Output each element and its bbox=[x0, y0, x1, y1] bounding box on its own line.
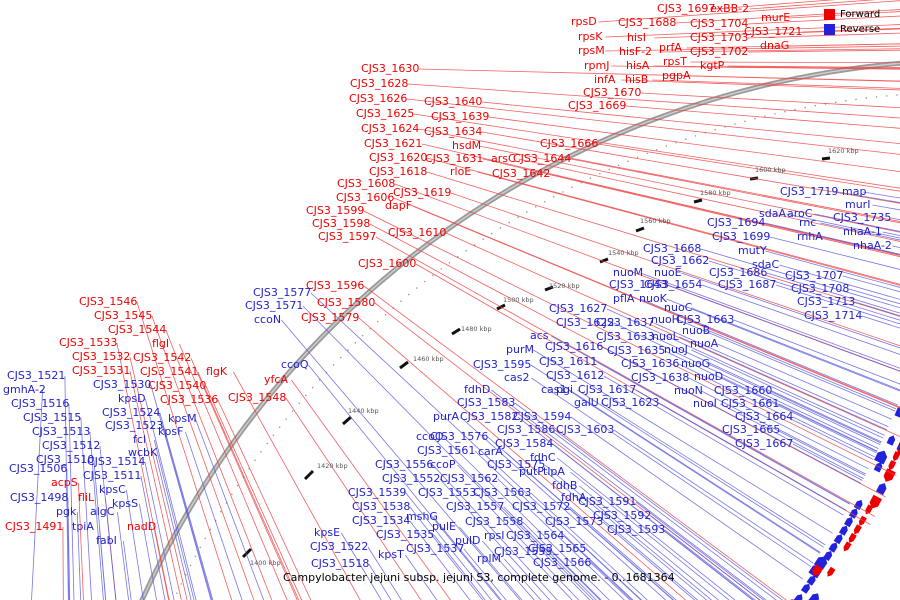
gene-label-reverse: CJS3_1513 bbox=[32, 426, 90, 437]
gene-label-reverse: CJS3_1665 bbox=[722, 424, 780, 435]
gene-label-forward: CJS3_1670 bbox=[583, 87, 641, 98]
gene-label-reverse: CJS3_1556 bbox=[375, 459, 433, 470]
gene-label-reverse: nuoA bbox=[690, 338, 718, 349]
scale-tick-label: 1520 kbp bbox=[549, 283, 580, 290]
gene-label-reverse: kpsM bbox=[168, 413, 197, 424]
gene-label-forward: hisI bbox=[627, 32, 646, 43]
gene-label-reverse: nuoE bbox=[654, 267, 682, 278]
gene-label-forward: hisB bbox=[625, 74, 648, 85]
gene-label-forward: rpsM bbox=[578, 45, 605, 56]
gene-label-forward: nadD bbox=[127, 521, 156, 532]
gene-label-forward: CJS3_1544 bbox=[108, 324, 166, 335]
gene-label-reverse: kpsF bbox=[158, 426, 183, 437]
gene-label-forward: hisF-2 bbox=[619, 46, 652, 57]
gene-label-reverse: kpsS bbox=[112, 498, 138, 509]
gene-label-reverse: ccoN bbox=[254, 314, 281, 325]
gene-label-forward: CJS3_1619 bbox=[393, 187, 451, 198]
reverse-gene-arrow bbox=[887, 435, 896, 445]
reverse-gene-arrow bbox=[839, 526, 848, 536]
gene-label-reverse: CJS3_1687 bbox=[718, 279, 776, 290]
reverse-gene-arrow bbox=[834, 534, 843, 544]
gene-label-forward: rpsT bbox=[663, 56, 687, 67]
gene-label-forward: CJS3_1533 bbox=[59, 337, 117, 348]
gene-label-reverse: CJS3_1595 bbox=[473, 359, 531, 370]
gene-label-reverse: CJS3_1638 bbox=[631, 372, 689, 383]
gene-label-forward: CJS3_1598 bbox=[312, 218, 370, 229]
gene-label-reverse: CJS3_1552 bbox=[382, 473, 440, 484]
gene-label-forward: CJS3_1628 bbox=[350, 78, 408, 89]
gene-label-reverse: pulD bbox=[455, 535, 480, 546]
gene-label-reverse: nuoJ bbox=[664, 344, 688, 355]
reverse-gene-arrow bbox=[844, 517, 853, 527]
gene-label-forward: CJS3_1599 bbox=[306, 205, 364, 216]
gene-label-reverse: pflA bbox=[613, 293, 634, 304]
gene-label-reverse: nuoL bbox=[652, 331, 679, 342]
gene-label-forward: CJS3_1618 bbox=[369, 166, 427, 177]
gene-label-reverse: CJS3_1563 bbox=[473, 487, 531, 498]
gene-label-reverse: tlpA bbox=[543, 466, 565, 477]
forward-gene-arrow bbox=[870, 495, 882, 509]
gene-label-reverse: CJS3_1654 bbox=[644, 279, 702, 290]
gene-label-reverse: CJS3_1535 bbox=[376, 529, 434, 540]
gene-label-reverse: CJS3_1514 bbox=[87, 456, 145, 467]
gene-label-reverse: CJS3_1564 bbox=[506, 530, 564, 541]
gene-label-forward: CJS3_1634 bbox=[424, 126, 482, 137]
gene-label-reverse: CJS3_1557 bbox=[446, 501, 504, 512]
gene-label-reverse: CJS3_1553 bbox=[418, 487, 476, 498]
gene-label-forward: pgpA bbox=[662, 70, 690, 81]
gene-label-reverse: CJS3_1577 bbox=[253, 287, 311, 298]
gene-label-forward: CJS3_1532 bbox=[72, 351, 130, 362]
gene-label-reverse: CJS3_1566 bbox=[533, 557, 591, 568]
gene-label-reverse: CJS3_1707 bbox=[785, 270, 843, 281]
gene-label-reverse: CJS3_1611 bbox=[539, 356, 597, 367]
gene-label-forward: rloE bbox=[450, 166, 471, 177]
gene-label-forward: CJS3_1702 bbox=[690, 46, 748, 57]
gene-label-reverse: CJS3_1627 bbox=[549, 303, 607, 314]
scale-tick-label: 1580 kbp bbox=[700, 190, 731, 197]
gene-label-forward: CJS3_1644 bbox=[513, 153, 571, 164]
gene-label-forward: flgK bbox=[206, 366, 227, 377]
gene-label-forward: fliL bbox=[78, 492, 94, 503]
gene-label-reverse: kpsE bbox=[314, 527, 340, 538]
gene-label-reverse: fdhA bbox=[561, 492, 586, 503]
forward-gene-arrow bbox=[849, 533, 857, 543]
gene-label-forward: CJS3_1640 bbox=[424, 96, 482, 107]
scale-tick-label: 1540 kbp bbox=[608, 250, 639, 257]
gene-label-forward: hisA bbox=[626, 60, 649, 71]
scale-tick-label: 1500 kbp bbox=[503, 297, 534, 304]
gene-label-reverse: CJS3_1524 bbox=[102, 407, 160, 418]
gene-label-reverse: CJS3_1538 bbox=[352, 501, 410, 512]
gene-label-reverse: CJS3_1612 bbox=[546, 370, 604, 381]
gene-label-reverse: CJS3_1668 bbox=[643, 243, 701, 254]
gene-label-reverse: sdaC bbox=[752, 259, 779, 270]
reverse-gene-arrow bbox=[829, 543, 838, 553]
scale-tick-label: 1400 kbp bbox=[250, 560, 281, 567]
gene-label-reverse: CJS3_1593 bbox=[607, 524, 665, 535]
gene-label-forward: CJS3_1548 bbox=[228, 392, 286, 403]
scale-tick-label: 1560 kbp bbox=[640, 218, 671, 225]
gene-label-reverse: CJS3_1694 bbox=[707, 217, 765, 228]
gene-label-forward: CJS3_1580 bbox=[317, 297, 375, 308]
gene-label-forward: CJS3_1630 bbox=[361, 63, 419, 74]
gene-label-reverse: CJS3_1719 bbox=[780, 186, 838, 197]
gene-label-reverse: CJS3_1515 bbox=[23, 412, 81, 423]
scale-tick-label: 1420 kbp bbox=[317, 463, 348, 470]
gene-label-reverse: CJS3_1521 bbox=[7, 370, 65, 381]
gene-label-reverse: CJS3_1518 bbox=[311, 558, 369, 569]
forward-gene-arrow bbox=[827, 567, 835, 577]
gene-label-reverse: purA bbox=[433, 411, 459, 422]
gene-label-reverse: nuoK bbox=[639, 293, 667, 304]
gene-label-reverse: gmhA-2 bbox=[3, 384, 46, 395]
gene-label-forward: CJS3_1625 bbox=[356, 108, 414, 119]
reverse-color-swatch bbox=[824, 24, 835, 35]
gene-label-reverse: CJS3_1561 bbox=[417, 445, 475, 456]
gene-label-forward: CJS3_1620 bbox=[369, 152, 427, 163]
reverse-leader-line bbox=[145, 462, 247, 600]
gene-label-forward: CJS3_1642 bbox=[492, 168, 550, 179]
gene-label-reverse: nuoM bbox=[613, 267, 643, 278]
gene-label-reverse: CJS3_1714 bbox=[804, 310, 862, 321]
gene-label-reverse: fdhD bbox=[464, 384, 490, 395]
gene-label-forward: CJS3_1626 bbox=[349, 93, 407, 104]
gene-label-forward: arsC bbox=[491, 153, 516, 164]
gene-label-forward: CJS3_1536 bbox=[160, 394, 218, 405]
reverse-gene-arrow bbox=[876, 483, 887, 495]
gene-label-forward: prfA bbox=[659, 42, 682, 53]
gene-label-reverse: CJS3_1522 bbox=[310, 541, 368, 552]
legend-label-forward: Forward bbox=[840, 9, 880, 20]
reverse-gene-arrow bbox=[808, 593, 819, 600]
gene-label-reverse: CJS3_1558 bbox=[465, 516, 523, 527]
gene-label-reverse: pgi bbox=[556, 384, 573, 395]
gene-label-reverse: murI bbox=[845, 199, 870, 210]
scale-tick-label: 1600 kbp bbox=[755, 167, 786, 174]
legend-row-forward: Forward bbox=[824, 7, 892, 22]
gene-label-reverse: fabI bbox=[96, 535, 117, 546]
reverse-gene-arrow bbox=[801, 584, 810, 594]
gene-label-forward: CJS3_1704 bbox=[690, 18, 748, 29]
gene-label-reverse: CJS3_1616 bbox=[545, 341, 603, 352]
gene-label-reverse: CJS3_1699 bbox=[712, 231, 770, 242]
gene-label-reverse: CJS3_1512 bbox=[42, 440, 100, 451]
gene-label-reverse: CJS3_1592 bbox=[593, 510, 651, 521]
gene-label-reverse: tpiA bbox=[72, 521, 94, 532]
gene-label-forward: dapF bbox=[385, 200, 412, 211]
gene-label-forward: CJS3_1703 bbox=[690, 32, 748, 43]
gene-label-reverse: nuoD bbox=[694, 371, 723, 382]
gene-label-reverse: nuoI bbox=[693, 398, 717, 409]
gene-label-reverse: CJS3_1583 bbox=[457, 397, 515, 408]
gene-label-reverse: nuoB bbox=[682, 325, 710, 336]
gene-label-forward: rpsK bbox=[578, 31, 602, 42]
gene-label-reverse: cas2 bbox=[504, 372, 530, 383]
gene-label-reverse: CJS3_1523 bbox=[105, 420, 163, 431]
gene-label-reverse: fdhB bbox=[552, 480, 577, 491]
gene-label-forward: kgtP bbox=[700, 60, 724, 71]
gene-label-reverse: CJS3_1511 bbox=[83, 470, 141, 481]
gene-label-reverse: ccoQ bbox=[281, 359, 308, 370]
gene-label-reverse: nhaA-1 bbox=[843, 226, 882, 237]
gene-label-reverse: CJS3_1539 bbox=[348, 487, 406, 498]
gene-label-reverse: fcl bbox=[133, 434, 146, 445]
gene-label-reverse: CJS3_1664 bbox=[735, 411, 793, 422]
gene-label-forward: hsdM bbox=[452, 140, 481, 151]
gene-label-reverse: CJS3_1586 bbox=[497, 424, 555, 435]
gene-label-reverse: CJS3_1562 bbox=[440, 473, 498, 484]
gene-label-reverse: CJS3_1667 bbox=[735, 438, 793, 449]
legend: Forward Reverse bbox=[824, 7, 892, 37]
gene-label-reverse: CJS3_1591 bbox=[578, 496, 636, 507]
gene-label-reverse: CJS3_1576 bbox=[430, 431, 488, 442]
gene-label-reverse: CJS3_1571 bbox=[245, 300, 303, 311]
gene-label-reverse: CJS3_1584 bbox=[495, 438, 553, 449]
gene-label-forward: CJS3_1631 bbox=[425, 153, 483, 164]
gene-label-forward: dnaG bbox=[760, 40, 789, 51]
gene-label-reverse: mutY bbox=[738, 245, 767, 256]
gene-label-reverse: CJS3_1635 bbox=[607, 345, 665, 356]
gene-label-reverse: nhaA-2 bbox=[853, 240, 892, 251]
gene-label-reverse: CJS3_1498 bbox=[10, 492, 68, 503]
gene-label-reverse: kpsD bbox=[118, 393, 146, 404]
legend-row-reverse: Reverse bbox=[824, 22, 892, 37]
gene-label-forward: exBB-2 bbox=[710, 3, 749, 14]
gene-label-reverse: CJS3_1530 bbox=[93, 379, 151, 390]
gene-label-forward: flgI bbox=[152, 338, 169, 349]
gene-label-reverse: CJS3_1660 bbox=[714, 385, 772, 396]
gene-label-reverse: rnc bbox=[799, 217, 816, 228]
gene-label-forward: CJS3_1546 bbox=[79, 296, 137, 307]
forward-leader-line bbox=[626, 106, 900, 136]
forward-leader-line bbox=[63, 527, 66, 600]
gene-label-reverse: CJS3_1708 bbox=[791, 283, 849, 294]
gene-label-reverse: putP bbox=[519, 466, 544, 477]
reverse-gene-arrow bbox=[849, 509, 858, 519]
forward-gene-arrow bbox=[888, 460, 896, 470]
gene-label-reverse: kpsT bbox=[378, 549, 404, 560]
gene-label-reverse: nuoC bbox=[664, 302, 692, 313]
gene-label-reverse: kpsC bbox=[99, 484, 126, 495]
gene-label-reverse: CJS3_1565 bbox=[528, 543, 586, 554]
gene-label-forward: CJS3_1610 bbox=[388, 227, 446, 238]
scale-tick-label: 1460 kbp bbox=[413, 356, 444, 363]
gene-label-forward: CJS3_1721 bbox=[744, 26, 802, 37]
gene-label-reverse: CJS3_1735 bbox=[833, 212, 891, 223]
gene-label-forward: CJS3_1491 bbox=[5, 521, 63, 532]
gene-label-forward: CJS3_1531 bbox=[72, 365, 130, 376]
gene-label-reverse: CJS3_1534 bbox=[352, 515, 410, 526]
map-caption: Campylobacter jejuni subsp. jejuni S3, c… bbox=[283, 571, 675, 584]
gene-label-forward: CJS3_1688 bbox=[618, 17, 676, 28]
gene-label-forward: CJS3_1579 bbox=[301, 312, 359, 323]
gene-label-reverse: rpsI bbox=[484, 530, 504, 541]
gene-label-forward: CJS3_1600 bbox=[358, 258, 416, 269]
gene-label-forward: CJS3_1666 bbox=[540, 138, 598, 149]
gene-label-reverse: CJS3_1636 bbox=[621, 358, 679, 369]
gene-label-forward: murE bbox=[761, 12, 790, 23]
gene-label-forward: rpsD bbox=[571, 16, 597, 27]
gene-label-forward: CJS3_1608 bbox=[337, 178, 395, 189]
gene-label-reverse: CJS3_1713 bbox=[797, 296, 855, 307]
gene-label-reverse: CJS3_1582 bbox=[460, 411, 518, 422]
scale-tick-label: 1440 kbp bbox=[348, 408, 379, 415]
gene-label-reverse: fdhC bbox=[530, 452, 556, 463]
gene-label-forward: CJS3_1597 bbox=[318, 231, 376, 242]
gene-label-reverse: pulE bbox=[432, 521, 456, 532]
gene-label-reverse: pgk bbox=[56, 506, 76, 517]
gene-label-reverse: CJS3_1516 bbox=[11, 398, 69, 409]
reverse-leader-line bbox=[793, 444, 863, 481]
reverse-leader-line bbox=[862, 316, 900, 336]
forward-leader-line bbox=[787, 42, 900, 46]
gene-label-reverse: CJS3_1637 bbox=[596, 317, 654, 328]
gene-label-reverse: algC bbox=[90, 506, 114, 517]
gene-label-forward: CJS3_1697 bbox=[657, 3, 715, 14]
gene-label-reverse: nuoG bbox=[681, 358, 710, 369]
gene-label-forward: CJS3_1639 bbox=[431, 111, 489, 122]
forward-gene-arrow bbox=[854, 524, 862, 534]
reverse-gene-arrow bbox=[874, 462, 883, 472]
gene-label-reverse: CJS3_1506 bbox=[9, 463, 67, 474]
gene-label-reverse: purM bbox=[506, 344, 534, 355]
gene-label-reverse: CJS3_1662 bbox=[651, 255, 709, 266]
genome-map-canvas: CJS3_1630CJS3_1628CJS3_1626CJS3_1625CJS3… bbox=[0, 0, 900, 600]
gene-label-reverse: ccoP bbox=[430, 459, 455, 470]
gene-label-reverse: CJS3_1661 bbox=[721, 398, 779, 409]
gene-label-reverse: CJS3_1594 bbox=[513, 411, 571, 422]
scale-tick-label: 1480 kbp bbox=[461, 326, 492, 333]
gene-label-reverse: CJS3_1623 bbox=[601, 397, 659, 408]
gene-label-reverse: CJS3_1663 bbox=[676, 314, 734, 325]
gene-label-reverse: rnhA bbox=[797, 231, 823, 242]
gene-label-forward: CJS3_1624 bbox=[361, 123, 419, 134]
gene-label-forward: infA bbox=[594, 74, 615, 85]
gene-label-reverse: nuoN bbox=[674, 385, 703, 396]
gene-label-reverse: CJS3_1603 bbox=[556, 424, 614, 435]
reverse-gene-arrow bbox=[793, 594, 802, 600]
legend-label-reverse: Reverse bbox=[840, 24, 880, 35]
scale-tick-label: 1620 kbp bbox=[828, 148, 859, 155]
reverse-leader-line bbox=[651, 516, 777, 600]
gene-label-forward: CJS3_1540 bbox=[148, 380, 206, 391]
gene-label-reverse: CJS3_1617 bbox=[578, 384, 636, 395]
gene-label-forward: CJS3_1596 bbox=[306, 280, 364, 291]
gene-label-forward: CJS3_1541 bbox=[140, 366, 198, 377]
gene-label-reverse: galU bbox=[574, 397, 599, 408]
gene-label-reverse: map bbox=[842, 186, 866, 197]
gene-label-forward: CJS3_1669 bbox=[568, 100, 626, 111]
gene-label-forward: yfcA bbox=[264, 374, 288, 385]
forward-color-swatch bbox=[824, 9, 835, 20]
gene-label-reverse: sdaA bbox=[759, 208, 786, 219]
gene-label-forward: CJS3_1621 bbox=[364, 138, 422, 149]
gene-label-forward: acpS bbox=[51, 477, 78, 488]
gene-label-forward: CJS3_1545 bbox=[94, 310, 152, 321]
gene-label-forward: rpmJ bbox=[584, 60, 609, 71]
gene-label-forward: CJS3_1542 bbox=[133, 352, 191, 363]
forward-gene-arrow bbox=[844, 542, 852, 552]
gene-label-reverse: CJS3_1633 bbox=[596, 331, 654, 342]
